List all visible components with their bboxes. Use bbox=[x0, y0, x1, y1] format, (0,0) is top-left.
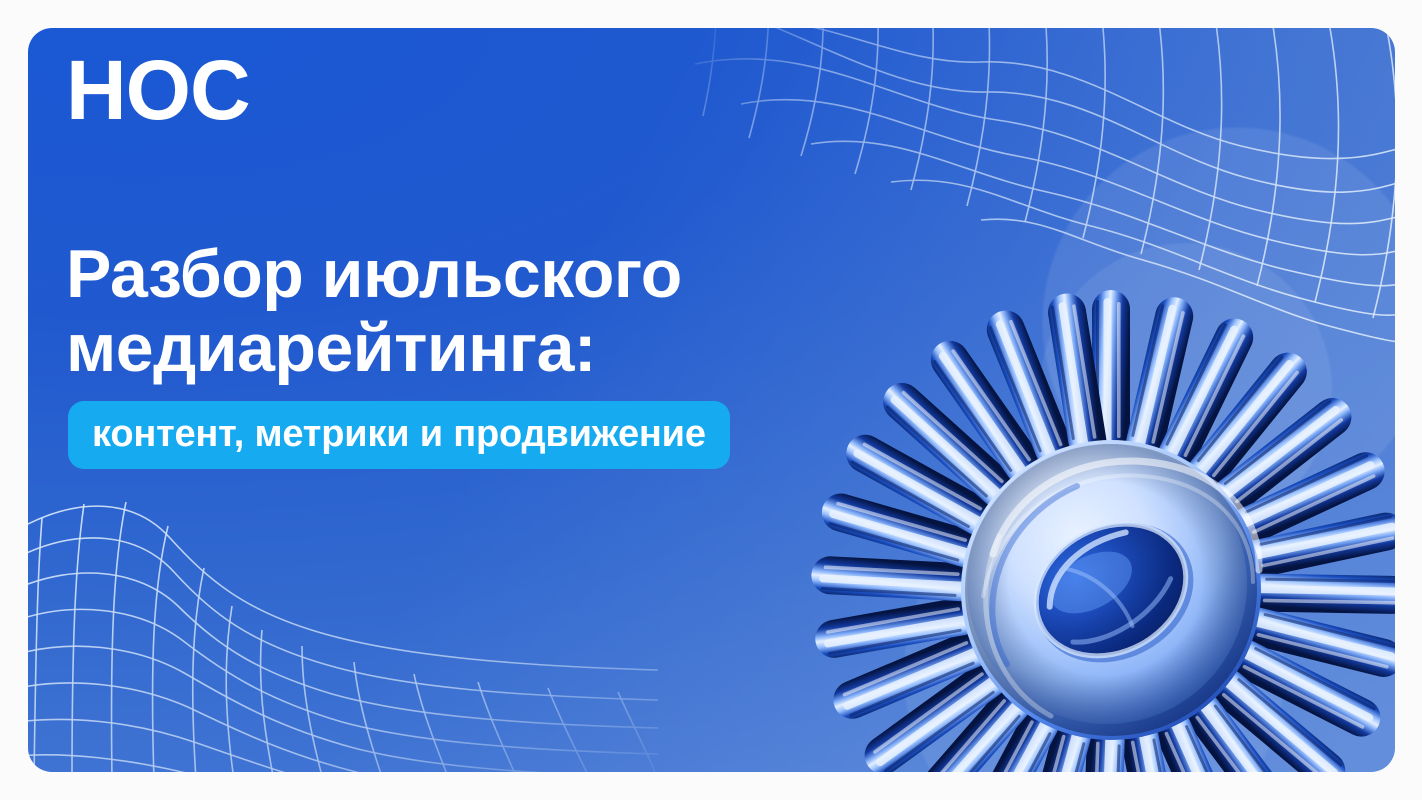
text-content: НОС Разбор июльского медиарейтинга: конт… bbox=[66, 28, 966, 772]
subtitle-highlight-pill: контент, метрики и продвижение bbox=[68, 401, 730, 469]
brand-logo: НОС bbox=[66, 48, 250, 132]
page-title: Разбор июльского медиарейтинга: bbox=[66, 237, 886, 387]
glow-circle-2 bbox=[1021, 224, 1351, 554]
slide-root: НОС Разбор июльского медиарейтинга: конт… bbox=[0, 0, 1422, 800]
glow-circle-1 bbox=[1017, 102, 1395, 542]
banner-card: НОС Разбор июльского медиарейтинга: конт… bbox=[28, 28, 1395, 772]
